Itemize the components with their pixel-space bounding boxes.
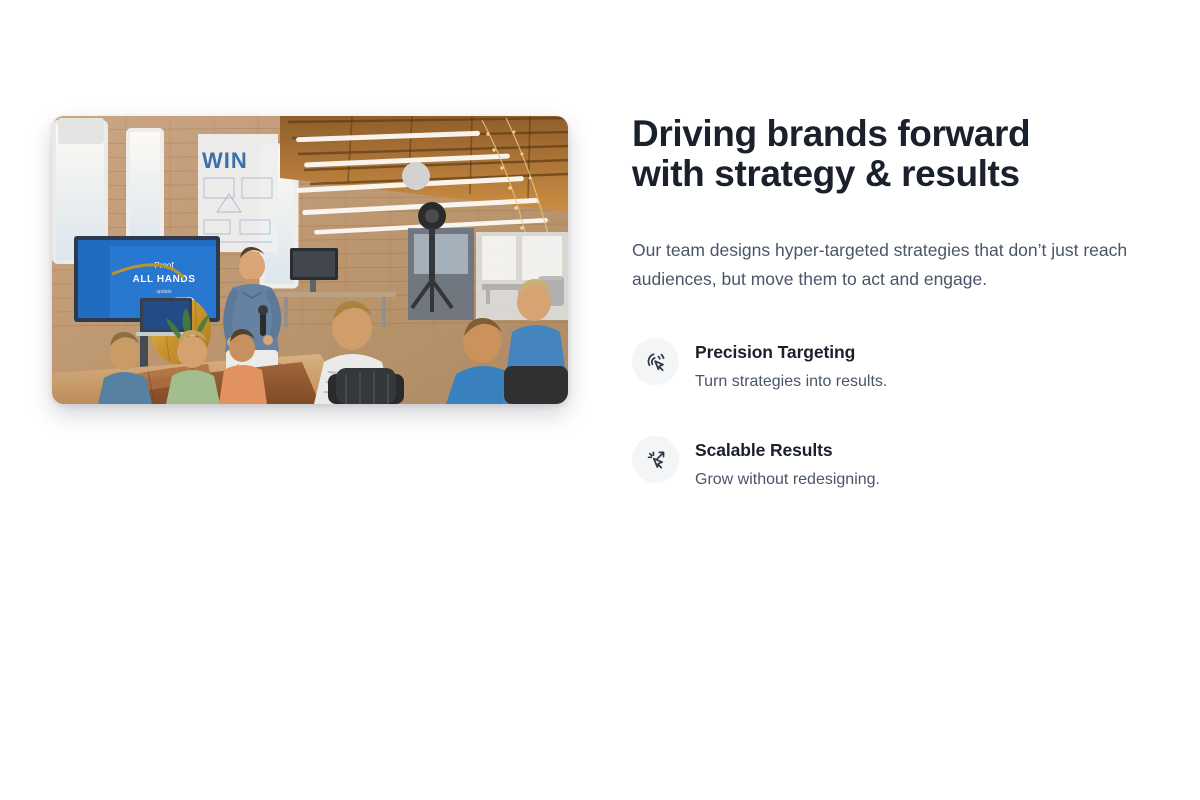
- feature-description: Grow without redesigning.: [695, 469, 880, 491]
- hero-section: WIN: [52, 116, 1148, 491]
- feature-title: Precision Targeting: [695, 341, 887, 363]
- hero-media: WIN: [52, 116, 568, 404]
- office-meeting-illustration: WIN: [52, 116, 568, 404]
- feature-title: Scalable Results: [695, 439, 880, 461]
- hero-subcopy: Our team designs hyper-targeted strategi…: [632, 236, 1148, 294]
- feature-item-scalable-results: Scalable Results Grow without redesignin…: [632, 436, 1148, 491]
- cursor-click-glyph: [644, 350, 668, 374]
- cursor-growth-arrow-glyph: [644, 448, 668, 472]
- cursor-click-icon: [632, 338, 679, 385]
- feature-list: Precision Targeting Turn strategies into…: [632, 338, 1148, 491]
- hero-copy: Driving brands forward with strategy & r…: [632, 116, 1148, 491]
- feature-item-precision-targeting: Precision Targeting Turn strategies into…: [632, 338, 1148, 393]
- cursor-growth-arrow-icon: [632, 436, 679, 483]
- page-root: WIN: [0, 0, 1200, 800]
- page-title: Driving brands forward with strategy & r…: [632, 114, 1148, 194]
- office-meeting-photo: WIN: [52, 116, 568, 404]
- headline-line-1: Driving brands forward: [632, 114, 1148, 154]
- headline-line-2: with strategy & results: [632, 154, 1148, 194]
- feature-text-block: Scalable Results Grow without redesignin…: [695, 436, 880, 491]
- feature-text-block: Precision Targeting Turn strategies into…: [695, 338, 887, 393]
- feature-description: Turn strategies into results.: [695, 371, 887, 393]
